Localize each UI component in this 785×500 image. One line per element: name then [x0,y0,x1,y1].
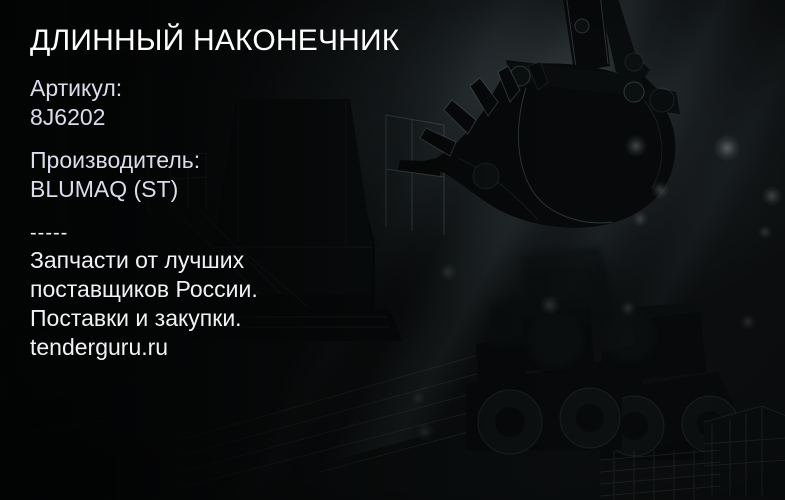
manufacturer-field: Производитель: BLUMAQ (ST) [30,146,500,204]
article-label: Артикул: [30,74,500,103]
product-banner: ДЛИННЫЙ НАКОНЕЧНИК Артикул: 8J6202 Произ… [0,0,785,500]
article-field: Артикул: 8J6202 [30,74,500,132]
background-loader-silhouette [490,240,710,370]
product-title: ДЛИННЫЙ НАКОНЕЧНИК [30,22,500,60]
banner-content: ДЛИННЫЙ НАКОНЕЧНИК Артикул: 8J6202 Произ… [30,22,500,362]
promo-line-3: Поставки и закупки. [30,304,500,333]
bokeh-dot [714,135,740,161]
article-value: 8J6202 [30,103,500,132]
bokeh-dot [762,186,782,206]
grate-texture-silhouette [600,450,720,500]
promo-site-url: tenderguru.ru [30,333,500,362]
manufacturer-label: Производитель: [30,146,500,175]
promo-line-2: поставщиков России. [30,275,500,304]
promo-line-1: Запчасти от лучших [30,246,500,275]
manufacturer-value: BLUMAQ (ST) [30,175,500,204]
text-separator: ----- [30,222,500,244]
bokeh-dot [758,225,772,239]
